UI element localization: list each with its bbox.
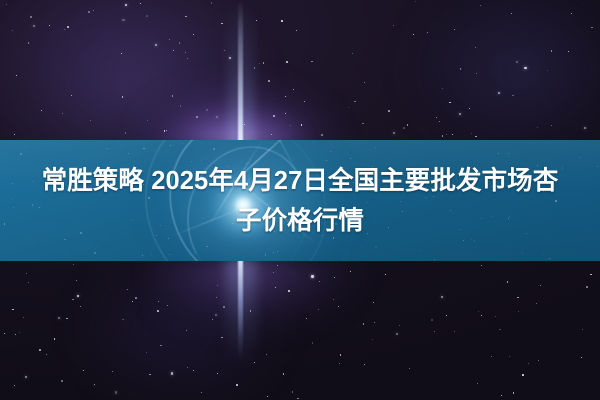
star [167, 305, 168, 306]
star [155, 44, 157, 46]
star [540, 285, 541, 286]
star [512, 95, 514, 97]
star [12, 309, 14, 311]
star [296, 30, 297, 31]
star [88, 11, 90, 13]
star [350, 271, 351, 272]
star [491, 356, 492, 357]
star [236, 384, 238, 386]
star [221, 23, 223, 25]
star [30, 16, 32, 18]
star [66, 318, 68, 320]
star [212, 319, 213, 320]
star [288, 290, 290, 292]
star [403, 127, 405, 129]
banner-image: 常胜策略 2025年4月27日全国主要批发市场杏 子价格行情 [0, 0, 600, 400]
star [517, 297, 519, 299]
headline-block: 常胜策略 2025年4月27日全国主要批发市场杏 子价格行情 [0, 140, 600, 261]
star [537, 127, 538, 128]
star [283, 373, 285, 375]
star [507, 281, 509, 283]
star [14, 385, 15, 386]
star [449, 102, 451, 104]
star [495, 316, 496, 317]
star [125, 4, 127, 6]
star [364, 364, 365, 365]
star [67, 26, 69, 28]
star [171, 372, 173, 374]
star [522, 374, 524, 376]
star [211, 2, 213, 4]
light-beam-lower [238, 260, 243, 360]
star [388, 110, 390, 112]
star [180, 105, 182, 107]
star [586, 286, 588, 288]
star [273, 115, 275, 117]
star [452, 134, 453, 135]
star [49, 25, 50, 26]
star [122, 96, 124, 98]
star [146, 15, 148, 17]
star [216, 297, 217, 298]
star [431, 319, 433, 321]
star [254, 362, 255, 363]
star [193, 34, 194, 35]
light-beam-upper [238, 0, 243, 146]
star [271, 134, 272, 135]
star [254, 67, 256, 69]
star [275, 287, 276, 288]
star [115, 391, 117, 393]
star [292, 391, 294, 393]
star [374, 322, 375, 323]
star [498, 92, 500, 94]
star [147, 120, 148, 121]
star [454, 29, 455, 30]
star [372, 339, 373, 340]
star [536, 303, 537, 304]
star [340, 354, 342, 356]
star [164, 130, 166, 132]
star [158, 301, 159, 302]
star [196, 116, 198, 118]
star [352, 53, 353, 54]
star [221, 337, 223, 339]
star [166, 130, 167, 131]
star [206, 109, 208, 111]
star [591, 27, 593, 29]
star [121, 53, 122, 54]
star [263, 62, 265, 64]
star [446, 134, 447, 135]
star [306, 318, 307, 319]
star [442, 135, 444, 137]
star [286, 61, 288, 63]
headline-line-1: 常胜策略 2025年4月27日全国主要批发市场杏 [42, 161, 559, 201]
star [83, 370, 84, 371]
star [125, 132, 127, 134]
star [475, 136, 477, 138]
star [321, 134, 323, 136]
star [135, 297, 137, 299]
star [281, 20, 283, 22]
star [172, 95, 174, 97]
star [157, 310, 159, 312]
star [76, 280, 77, 281]
star [442, 88, 443, 89]
star [311, 275, 313, 277]
star [407, 124, 409, 126]
star [509, 356, 510, 357]
star [409, 368, 410, 369]
star [268, 80, 270, 82]
star [385, 274, 386, 275]
star [39, 349, 41, 351]
star [223, 306, 225, 308]
star [250, 310, 252, 312]
star [513, 392, 515, 394]
star [6, 4, 7, 5]
star [179, 42, 181, 44]
star [436, 117, 437, 118]
star [25, 376, 27, 378]
star [571, 13, 572, 14]
star [93, 10, 94, 11]
star [201, 392, 202, 393]
star [122, 319, 124, 321]
star [90, 120, 91, 121]
star [14, 134, 16, 136]
star [132, 301, 133, 302]
star [80, 306, 81, 307]
star [454, 331, 455, 332]
star [354, 101, 356, 103]
star [516, 61, 518, 63]
star [61, 380, 63, 382]
star [16, 75, 17, 76]
star [216, 116, 218, 118]
headline-line-2: 子价格行情 [236, 201, 364, 241]
star [185, 16, 187, 18]
star [33, 25, 35, 27]
